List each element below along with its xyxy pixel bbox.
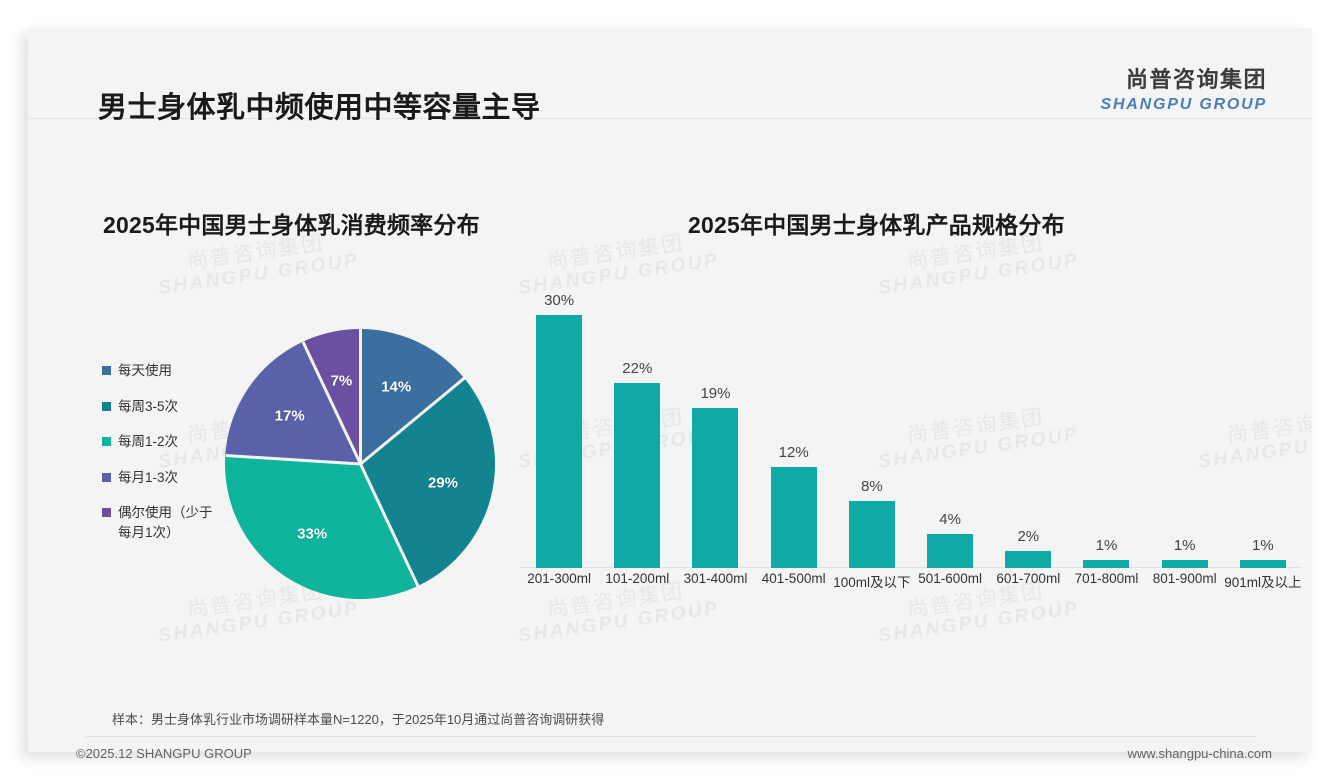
legend-color-swatch xyxy=(102,402,111,411)
pie-legend-item[interactable]: 每周3-5次 xyxy=(102,397,222,417)
bar[interactable] xyxy=(927,534,973,568)
chart-title-frequency: 2025年中国男士身体乳消费频率分布 xyxy=(103,206,480,240)
pie-slice-label: 17% xyxy=(275,408,305,425)
bar-value-label: 1% xyxy=(1252,537,1274,554)
bar-value-label: 22% xyxy=(622,360,652,377)
bar-category-label: 100ml及以下 xyxy=(833,571,910,591)
bar-slot: 12% xyxy=(755,290,833,568)
sample-footnote: 样本：男士身体乳行业市场调研样本量N=1220，于2025年10月通过尚普咨询调… xyxy=(112,709,604,728)
bar-category-label: 301-400ml xyxy=(684,571,748,586)
logo-text-cn: 尚普咨询集团 xyxy=(1100,62,1267,94)
footer-copyright: ©2025.12 SHANGPU GROUP xyxy=(76,746,252,761)
brand-logo: 尚普咨询集团 SHANGPU GROUP xyxy=(1100,62,1267,114)
bar-category-label: 401-500ml xyxy=(762,571,826,586)
bar-slot: 1% xyxy=(1224,290,1302,568)
bar-value-label: 12% xyxy=(779,444,809,461)
page-title: 男士身体乳中频使用中等容量主导 xyxy=(98,84,541,126)
slide-card: 尚普咨询集团SHANGPU GROUP 尚普咨询集团SHANGPU GROUP … xyxy=(28,28,1312,752)
pie-slice-label: 14% xyxy=(381,379,411,396)
bar-value-label: 1% xyxy=(1174,537,1196,554)
legend-item-label: 每周3-5次 xyxy=(118,397,178,417)
bar-value-label: 8% xyxy=(861,478,883,495)
bar-slot: 1% xyxy=(1146,290,1224,568)
pie-slice-label: 29% xyxy=(428,474,458,491)
bar-slot: 19% xyxy=(676,290,754,568)
bar-category-label: 701-800ml xyxy=(1075,571,1139,586)
pie-legend-item[interactable]: 每天使用 xyxy=(102,361,222,381)
bar[interactable] xyxy=(849,501,895,568)
legend-color-swatch xyxy=(102,366,111,375)
bar-value-label: 19% xyxy=(700,385,730,402)
legend-color-swatch xyxy=(102,437,111,446)
footer-divider xyxy=(86,736,1256,737)
pie-legend-item[interactable]: 每月1-3次 xyxy=(102,468,222,488)
legend-item-label: 每周1-2次 xyxy=(118,432,178,452)
pie-legend-item[interactable]: 每周1-2次 xyxy=(102,432,222,452)
pie-legend: 每天使用每周3-5次每周1-2次每月1-3次偶尔使用（少于 每月1次） xyxy=(102,361,222,558)
bar-value-label: 30% xyxy=(544,292,574,309)
slide-header: 男士身体乳中频使用中等容量主导 尚普咨询集团 SHANGPU GROUP xyxy=(28,28,1312,119)
bar-category-label: 501-600ml xyxy=(918,571,982,586)
legend-item-label: 每天使用 xyxy=(118,361,172,381)
legend-color-swatch xyxy=(102,508,111,517)
bar-category-labels: 201-300ml101-200ml301-400ml401-500ml100m… xyxy=(520,571,1302,593)
bar[interactable] xyxy=(1005,551,1051,568)
legend-item-label: 偶尔使用（少于 每月1次） xyxy=(118,503,213,542)
bar-chart: 30%22%19%12%8%4%2%1%1%1% xyxy=(520,290,1302,568)
pie-slice-label: 33% xyxy=(297,526,327,543)
bar-category-label: 801-900ml xyxy=(1153,571,1217,586)
bar[interactable] xyxy=(692,408,738,568)
bar[interactable] xyxy=(1083,560,1129,568)
logo-text-en: SHANGPU GROUP xyxy=(1100,96,1267,114)
pie-slice-separator xyxy=(359,329,362,464)
bar-slot: 22% xyxy=(598,290,676,568)
bar-slot: 8% xyxy=(833,290,911,568)
bar[interactable] xyxy=(1240,560,1286,568)
legend-color-swatch xyxy=(102,473,111,482)
chart-title-capacity: 2025年中国男士身体乳产品规格分布 xyxy=(688,206,1065,240)
bar-category-label: 601-700ml xyxy=(996,571,1060,586)
bar-value-label: 1% xyxy=(1096,537,1118,554)
bar-category-label: 201-300ml xyxy=(527,571,591,586)
bar-slot: 1% xyxy=(1067,290,1145,568)
bar[interactable] xyxy=(771,467,817,568)
pie-legend-item[interactable]: 偶尔使用（少于 每月1次） xyxy=(102,503,222,542)
bar[interactable] xyxy=(1162,560,1208,568)
bar-slot: 30% xyxy=(520,290,598,568)
bar-slot: 4% xyxy=(911,290,989,568)
pie-chart: 14%29%33%17%7% xyxy=(225,329,495,599)
legend-item-label: 每月1-3次 xyxy=(118,468,178,488)
bar-value-label: 2% xyxy=(1017,528,1039,545)
footer-website: www.shangpu-china.com xyxy=(1127,746,1272,761)
bar-slot: 2% xyxy=(989,290,1067,568)
bar[interactable] xyxy=(536,315,582,568)
bar[interactable] xyxy=(614,383,660,568)
bar-value-label: 4% xyxy=(939,511,961,528)
pie-slice-label: 7% xyxy=(331,372,353,389)
bar-category-label: 901ml及以上 xyxy=(1224,571,1301,591)
bar-category-label: 101-200ml xyxy=(605,571,669,586)
